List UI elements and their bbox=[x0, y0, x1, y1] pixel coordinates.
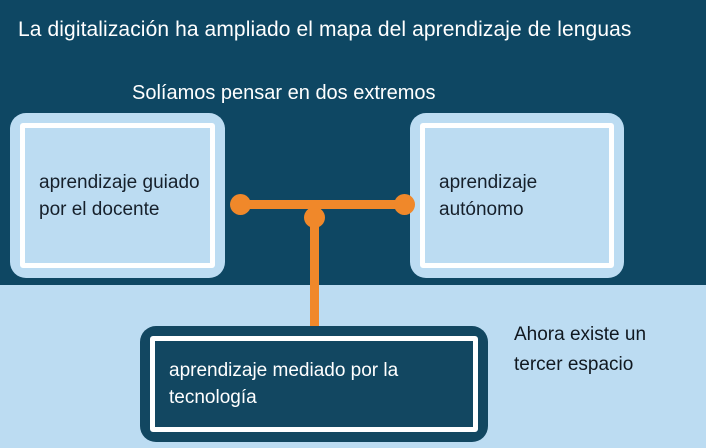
diagram-canvas: La digitalización ha ampliado el mapa de… bbox=[0, 0, 706, 448]
node-technology-mediated[interactable]: aprendizaje mediado por la tecnología bbox=[140, 326, 488, 442]
connector-node-center bbox=[304, 207, 325, 228]
connector-node-left bbox=[230, 194, 251, 215]
connector-node-right bbox=[394, 194, 415, 215]
node-frame: aprendizaje guiado por el docente bbox=[20, 123, 215, 268]
node-frame: aprendizaje autónomo bbox=[420, 123, 614, 268]
connector-horizontal bbox=[240, 200, 405, 209]
node-label: aprendizaje autónomo bbox=[425, 169, 609, 223]
node-label: aprendizaje mediado por la tecnología bbox=[155, 357, 473, 411]
node-frame: aprendizaje mediado por la tecnología bbox=[150, 336, 478, 432]
node-label: aprendizaje guiado por el docente bbox=[25, 169, 210, 223]
connector-vertical bbox=[310, 213, 319, 328]
node-teacher-guided[interactable]: aprendizaje guiado por el docente bbox=[10, 113, 225, 278]
node-autonomous[interactable]: aprendizaje autónomo bbox=[410, 113, 624, 278]
page-title: La digitalización ha ampliado el mapa de… bbox=[18, 16, 678, 44]
diagram-subtitle: Solíamos pensar en dos extremos bbox=[132, 80, 436, 106]
side-note-text: Ahora existe un tercer espacio bbox=[514, 320, 694, 380]
